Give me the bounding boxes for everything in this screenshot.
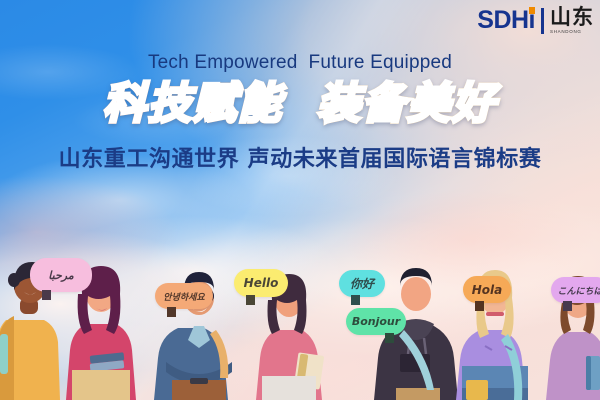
logo-wordmark: SDHi (477, 8, 535, 33)
sdhi-logo: SDHi 山东 SHANDONG (477, 7, 594, 35)
speech-bubble-spanish: Hola (463, 276, 511, 303)
speech-bubble-japanese: こんにちは (551, 277, 600, 303)
speech-bubble-korean: 안녕하세요 (155, 283, 213, 309)
main-title: 科技赋能 装备美好 (0, 82, 600, 127)
poster-banner: SDHi 山东 SHANDONG Tech Empowered Future E… (0, 0, 600, 400)
logo-chinese-name: 山东 (550, 7, 594, 28)
orange-dot-icon (529, 7, 535, 14)
logo-divider (541, 8, 544, 34)
english-tagline: Tech Empowered Future Equipped (0, 52, 600, 74)
speech-bubble-arabic: مرحبا (30, 258, 92, 292)
event-subtitle: 山东重工沟通世界 声动未来首届国际语言锦标赛 (0, 141, 600, 173)
speech-bubble-chinese: 你好 (339, 270, 385, 297)
speech-bubble-french: Bonjour (346, 308, 406, 335)
logo-wordmark-text: SDHi (477, 6, 535, 34)
speech-bubble-english: Hello (234, 269, 288, 297)
headline-block: Tech Empowered Future Equipped 科技赋能 装备美好… (0, 52, 600, 173)
logo-english-name: SHANDONG (550, 30, 594, 35)
logo-name-block: 山东 SHANDONG (550, 7, 594, 35)
